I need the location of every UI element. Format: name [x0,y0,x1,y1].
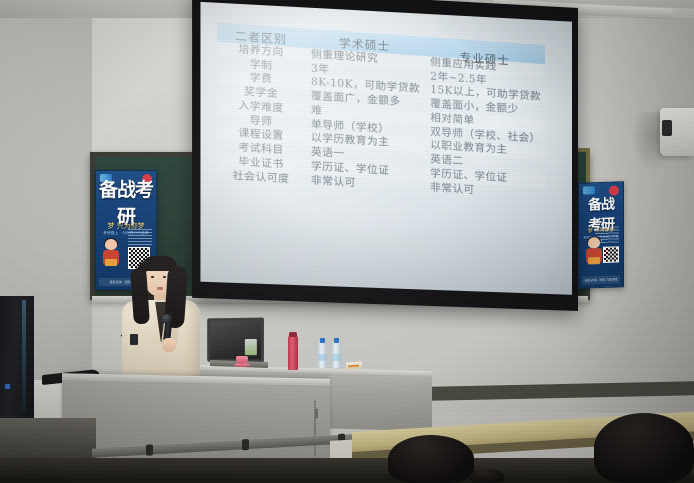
presenter-badge [130,334,138,345]
presenter-mouth [157,287,163,290]
poster-left-textblock [128,229,152,245]
poster-student-figure-icon [585,237,603,272]
poster-right: 备战考研 梦 只为你梦 考研路上 · 与你同行不孤单 报名咨询 · 扫码了解详情 [578,181,624,289]
red-thermos-bottle [288,336,298,370]
package-stripe [348,365,359,368]
water-bottle-1 [318,342,327,368]
bottle-label [318,354,327,361]
podium-door-hinge-icon [315,408,318,418]
student-head [594,413,694,483]
laptop-screen-glow [245,339,257,355]
av-cabinet [0,296,34,420]
foreground-dark-band [0,458,694,483]
ac-vent [662,120,672,136]
projection-screen: 二者区别 学术硕士 专业硕士 培养方向 [192,0,578,311]
bottle-cap-icon [334,338,339,343]
projected-slide: 二者区别 学术硕士 专业硕士 培养方向 [217,22,545,201]
screen-surface: 二者区别 学术硕士 专业硕士 培养方向 [200,2,572,295]
microphone-head-icon [162,314,172,324]
cabinet-led-icon [5,384,10,389]
presenter-hand [162,338,176,352]
classroom-photo: 备战考研 梦 只为你梦 考研路上 · 与你同行不孤单 报名咨询 · 扫码了解详情… [0,0,694,483]
bottle-label [332,354,341,361]
comparison-table: 二者区别 学术硕士 专业硕士 培养方向 [217,22,545,201]
presenter-eye-left [151,276,154,278]
rail-clip [146,444,153,455]
presenter [116,252,208,384]
water-bottle-2 [332,342,341,368]
student-head [470,469,504,483]
rail-clip [242,439,249,450]
pink-cup [234,356,250,368]
bottle-cap-icon [320,338,325,343]
poster-right-qr-icon [603,246,619,263]
cup-body [236,356,248,364]
poster-left-title: 备战考研 [99,187,153,217]
small-package [346,361,362,369]
poster-right-footer: 报名咨询 · 扫码了解详情 [582,275,620,284]
presenter-eye-right [163,276,166,278]
air-conditioner-icon [660,108,694,156]
student-head [388,435,474,483]
cabinet-light-strip [22,300,26,412]
poster-right-title: 备战考研 [582,198,620,229]
thermos-cap [289,332,297,337]
